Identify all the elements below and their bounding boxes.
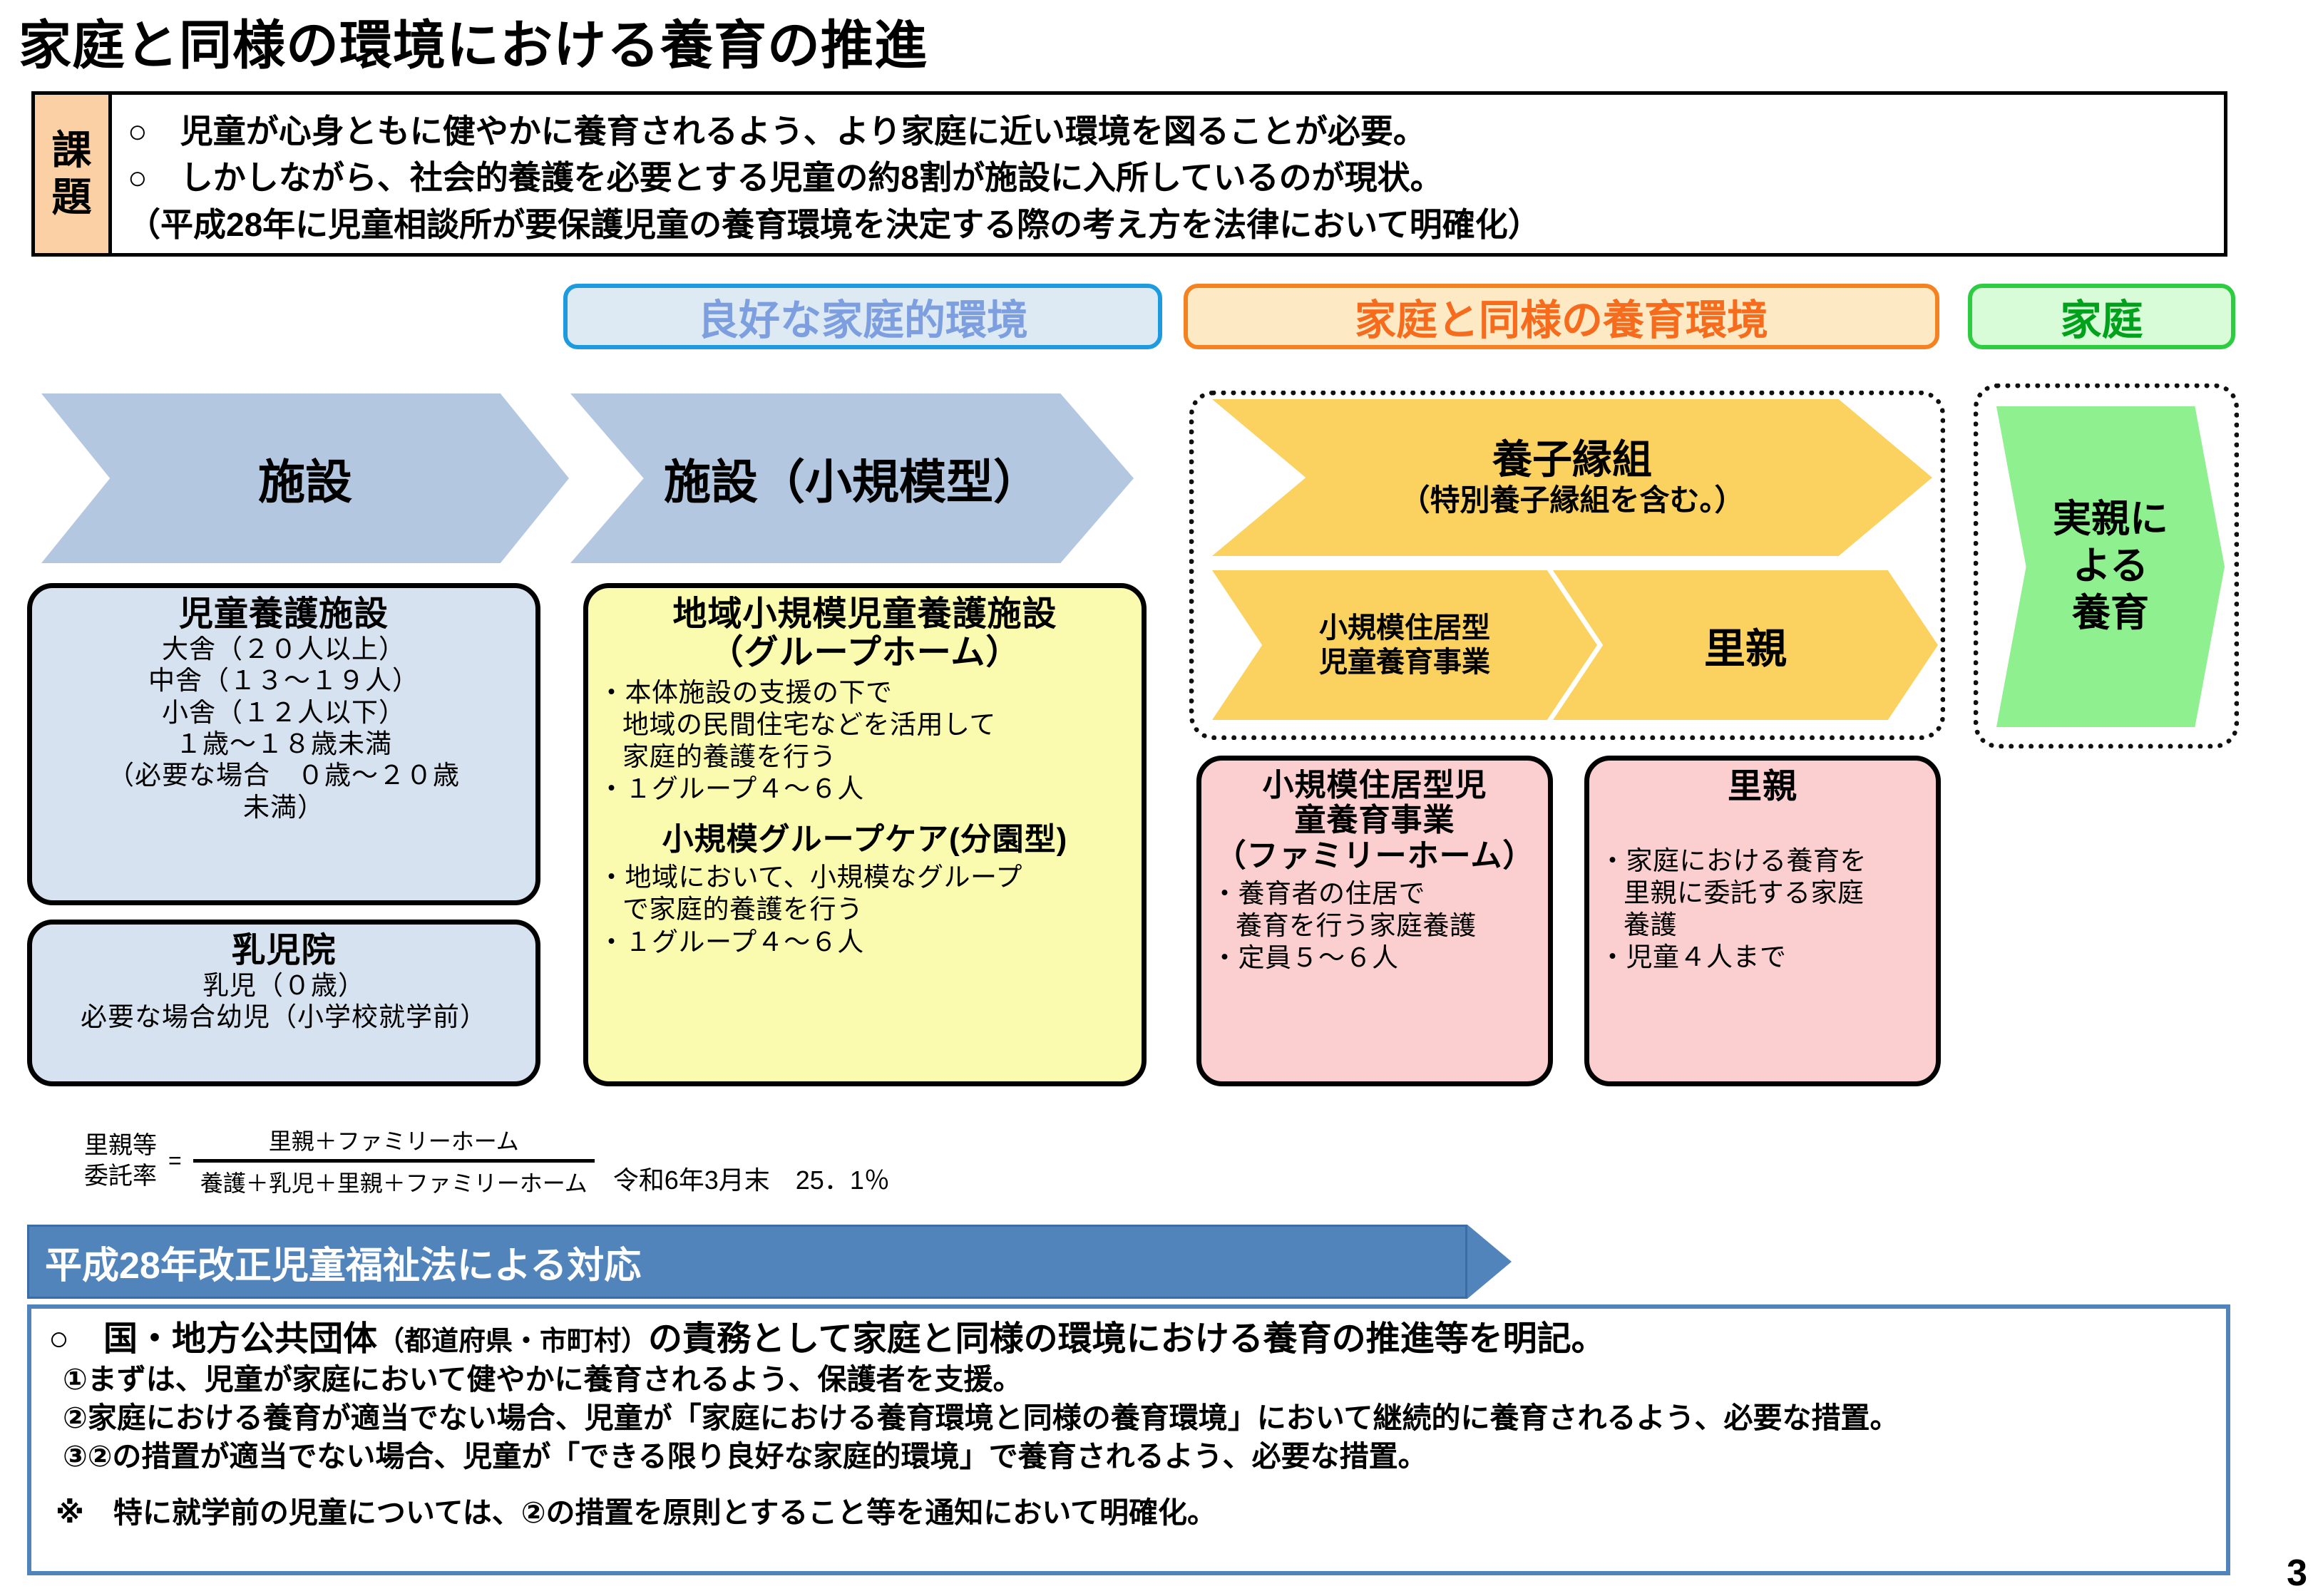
card-group-home-sub-bullet-1-cont: で家庭的養護を行う: [598, 893, 1132, 925]
arrow-foster-parent: 里親: [1553, 570, 1938, 720]
law-head: ○ 国・地方公共団体（都道府県・市町村）の責務として家庭と同様の環境における養育…: [48, 1319, 2210, 1360]
card-family-home: 小規模住居型児 童養育事業 （ファミリーホーム） ・養育者の住居で 養育を行う家…: [1196, 756, 1553, 1086]
issue-line-3: （平成28年に児童相談所が要保護児童の養育環境を決定する際の考え方を法律において…: [128, 202, 2224, 248]
issue-label-char-1: 課: [52, 127, 92, 174]
card-infant-home: 乳児院 乳児（０歳） 必要な場合幼児（小学校就学前）: [27, 920, 540, 1086]
arrow-birth-parent-line-1: 実親に: [2053, 496, 2168, 543]
card-group-home-sub-bullet-2: ・１グループ４～６人: [598, 926, 1132, 958]
law-banner-text: 平成28年改正児童福祉法による対応: [29, 1235, 641, 1289]
issue-body: ○ 児童が心身ともに健やかに養育されるよう、より家庭に近い環境を図ることが必要。…: [112, 95, 2224, 253]
page-number: 3: [2287, 1552, 2307, 1595]
law-banner: 平成28年改正児童福祉法による対応: [27, 1225, 1467, 1299]
card-group-home-bullets: ・本体施設の支援の下で 地域の民間住宅などを活用して 家庭的養護を行う ・１グル…: [598, 676, 1132, 805]
slide-page: 家庭と同様の環境における養育の推進 課 題 ○ 児童が心身ともに健やかに養育され…: [0, 0, 2313, 1596]
law-item-2: ②家庭における養育が適当でない場合、児童が「家庭における養育環境と同様の養育環境…: [48, 1399, 2210, 1437]
arrow-institution-small: 施設（小規模型）: [570, 393, 1134, 563]
formula-left-side: 里親等 委託率: [84, 1131, 157, 1191]
issue-line-1: ○ 児童が心身ともに健やかに養育されるよう、より家庭に近い環境を図ることが必要。: [128, 108, 2224, 155]
arrow-birth-parent-line-2: よる: [2053, 543, 2168, 590]
formula-value-note: 令和6年3月末 25．1％: [613, 1160, 890, 1198]
banner-family-like-environment: 家庭と同様の養育環境: [1184, 284, 1939, 349]
card-child-care-facility-line-3: 小舎（１２人以下）: [42, 697, 525, 729]
card-group-home-bullet-1-cont-1: 地域の民間住宅などを活用して: [598, 709, 1132, 741]
formula-equals-sign: =: [168, 1148, 182, 1174]
card-family-home-bullets: ・養育者の住居で 養育を行う家庭養護 ・定員５～６人: [1211, 877, 1538, 974]
formula-left-line-2: 委託率: [84, 1161, 157, 1192]
card-group-home-title-line-2: （グループホーム）: [598, 634, 1132, 672]
arrow-birth-parent-line-3: 養育: [2053, 590, 2168, 637]
law-item-1: ①まずは、児童が家庭において健やかに養育されるよう、保護者を支援。: [48, 1360, 2210, 1399]
law-head-part-b: （都道府県・市町村）: [377, 1327, 648, 1356]
card-group-home: 地域小規模児童養護施設 （グループホーム） ・本体施設の支援の下で 地域の民間住…: [583, 583, 1147, 1086]
card-child-care-facility-line-1: 大舎（２０人以上）: [42, 634, 525, 665]
card-family-home-bullet-1: ・養育者の住居で: [1211, 877, 1538, 910]
card-foster-parent-bullets: ・家庭における養育を 里親に委託する家庭 養護 ・児童４人まで: [1599, 845, 1926, 974]
banner-family: 家庭: [1968, 284, 2235, 349]
card-foster-parent-title: 里親: [1599, 768, 1926, 806]
card-foster-parent-bullet-2: ・児童４人まで: [1599, 941, 1926, 973]
page-title: 家庭と同様の環境における養育の推進: [19, 3, 928, 79]
card-foster-parent-bullet-1-cont-1: 里親に委託する家庭: [1599, 877, 1926, 909]
card-family-home-title-line-2: 童養育事業: [1211, 803, 1538, 838]
card-foster-parent-bullet-1-cont-2: 養護: [1599, 909, 1926, 941]
card-foster-parent-bullet-1: ・家庭における養育を: [1599, 845, 1926, 877]
formula-left-line-1: 里親等: [84, 1131, 157, 1161]
issue-box: 課 題 ○ 児童が心身ともに健やかに養育されるよう、より家庭に近い環境を図ること…: [31, 91, 2227, 257]
arrow-adoption-sub: （特別養子縁組を含む。）: [1400, 483, 1744, 518]
card-group-home-bullet-1: ・本体施設の支援の下で: [598, 676, 1132, 709]
card-foster-parent: 里親 ・家庭における養育を 里親に委託する家庭 養護 ・児童４人まで: [1584, 756, 1941, 1086]
law-head-part-a: ○ 国・地方公共団体: [48, 1320, 377, 1358]
arrow-small-residential-line-1: 小規模住居型: [1319, 611, 1490, 645]
law-head-part-c: の責務として家庭と同様の環境における養育の推進等を明記。: [648, 1320, 1606, 1358]
formula-denominator: 養護＋乳児＋里親＋ファミリーホーム: [193, 1163, 595, 1198]
arrow-institution: 施設: [41, 393, 569, 563]
card-group-home-bullet-1-cont-2: 家庭的養護を行う: [598, 741, 1132, 773]
issue-label-char-2: 題: [52, 174, 92, 221]
law-banner-arrow-tip: [1467, 1225, 1512, 1299]
foster-placement-ratio-formula: 里親等 委託率 = 里親＋ファミリーホーム 養護＋乳児＋里親＋ファミリーホーム …: [84, 1123, 890, 1198]
card-child-care-facility-line-4: １歳～１８歳未満: [42, 729, 525, 760]
law-item-3: ③②の措置が適当でない場合、児童が「できる限り良好な家庭的環境」で養育されるよう…: [48, 1437, 2210, 1476]
card-group-home-sub-bullets: ・地域において、小規模なグループ で家庭的養護を行う ・１グループ４～６人: [598, 861, 1132, 957]
card-child-care-facility: 児童養護施設 大舎（２０人以上） 中舎（１３～１９人） 小舎（１２人以下） １歳…: [27, 583, 540, 905]
arrow-adoption: 養子縁組 （特別養子縁組を含む。）: [1212, 399, 1932, 556]
card-family-home-title-line-1: 小規模住居型児: [1211, 768, 1538, 803]
arrow-adoption-main: 養子縁組: [1492, 437, 1652, 482]
law-note: ※ 特に就学前の児童については、②の措置を原則とすること等を通知において明確化。: [48, 1488, 2210, 1531]
card-family-home-bullet-2: ・定員５～６人: [1211, 942, 1538, 974]
card-group-home-sub-bullet-1: ・地域において、小規模なグループ: [598, 861, 1132, 893]
card-child-care-facility-line-5: （必要な場合 ０歳～２０歳: [42, 760, 525, 791]
card-child-care-facility-line-6: 未満）: [42, 792, 525, 823]
card-infant-home-title: 乳児院: [42, 932, 525, 970]
card-infant-home-line-2: 必要な場合幼児（小学校就学前）: [42, 1002, 525, 1033]
card-group-home-subtitle: 小規模グループケア(分園型): [598, 822, 1132, 857]
arrow-birth-parent: 実親に よる 養育: [1996, 406, 2225, 727]
card-family-home-title-line-3: （ファミリーホーム）: [1211, 838, 1538, 873]
card-family-home-bullet-1-cont: 養育を行う家庭養護: [1211, 910, 1538, 942]
card-group-home-bullet-2: ・１グループ４～６人: [598, 773, 1132, 805]
issue-label: 課 題: [35, 95, 112, 253]
card-child-care-facility-line-2: 中舎（１３～１９人）: [42, 665, 525, 696]
formula-fraction: 里親＋ファミリーホーム 養護＋乳児＋里親＋ファミリーホーム: [193, 1123, 595, 1198]
banner-good-family-environment: 良好な家庭的環境: [563, 284, 1162, 349]
card-child-care-facility-title: 児童養護施設: [42, 595, 525, 634]
card-group-home-title-line-1: 地域小規模児童養護施設: [598, 595, 1132, 634]
formula-numerator: 里親＋ファミリーホーム: [262, 1123, 526, 1159]
issue-line-2: ○ しかしながら、社会的養護を必要とする児童の約8割が施設に入所しているのが現状…: [128, 155, 2224, 201]
law-content-box: ○ 国・地方公共団体（都道府県・市町村）の責務として家庭と同様の環境における養育…: [27, 1304, 2230, 1575]
card-infant-home-line-1: 乳児（０歳）: [42, 970, 525, 1002]
arrow-small-residential-line-2: 児童養育事業: [1319, 645, 1490, 679]
arrow-small-residential: 小規模住居型 児童養育事業: [1212, 570, 1597, 720]
